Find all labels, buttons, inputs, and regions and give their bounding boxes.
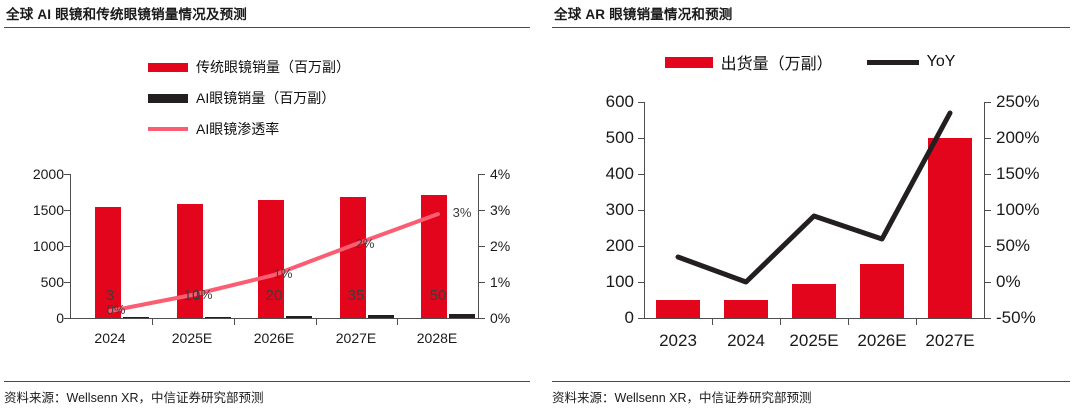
legend-item-ai-penetration: AI眼镜渗透率 — [148, 119, 350, 139]
legend-label-yoy: YoY — [927, 53, 956, 71]
y-axis-right-tick-0pct: 0% — [490, 310, 510, 326]
y-axis-right-tick-0pct: 0% — [996, 272, 1021, 292]
tick-x-sep-3 — [316, 319, 317, 325]
panel-right-footer-rule — [552, 381, 1070, 382]
tick-left-0 — [638, 318, 644, 319]
tick-x-sep-2 — [234, 319, 235, 325]
x-axis-label-2024: 2024 — [727, 331, 765, 351]
y-axis-right-tick-2pct: 2% — [490, 238, 510, 254]
y-axis-right-tick-250pct: 250% — [996, 92, 1039, 112]
legend-label-ai-penetration: AI眼镜渗透率 — [196, 119, 279, 139]
x-axis-label-2028e: 2028E — [417, 330, 457, 346]
tick-right-2pct — [479, 246, 485, 247]
x-axis-label-2024: 2024 — [94, 330, 125, 346]
x-axis-label-2027e: 2027E — [336, 330, 376, 346]
panel-left-title: 全球 AI 眼镜和传统眼镜销量情况及预测 — [4, 0, 530, 27]
tick-x-sep-4 — [397, 319, 398, 325]
tick-x-sep-1 — [712, 319, 713, 325]
pct-label-2027e: 2% — [356, 236, 375, 251]
pct-label-2025e: 1% — [194, 287, 213, 302]
panel-left-title-rule — [4, 27, 530, 28]
data-label-ai-2028e: 50 — [430, 287, 447, 304]
pct-label-2028e: 3% — [453, 205, 472, 220]
y-axis-left-tick-500: 500 — [4, 274, 64, 290]
legend-label-ai-glasses: AI眼镜销量（百万副） — [196, 88, 335, 108]
y-axis-left-tick-400: 400 — [562, 164, 634, 184]
legend-item-ai-glasses: AI眼镜销量（百万副） — [148, 88, 350, 108]
x-axis-label-2026e: 2026E — [254, 330, 294, 346]
tick-right-150pct — [985, 174, 991, 175]
legend-swatch-black-line-icon — [867, 60, 919, 65]
data-label-ai-2026e: 20 — [266, 287, 283, 304]
x-axis-line — [644, 318, 985, 319]
x-axis-label-2026e: 2026E — [857, 331, 906, 351]
legend-swatch-red-bar-icon — [665, 57, 713, 68]
y-axis-left-tick-1000: 1000 — [4, 238, 64, 254]
y-axis-left-tick-2000: 2000 — [4, 166, 64, 182]
y-axis-left-tick-100: 100 — [562, 272, 634, 292]
tick-x-sep-1 — [152, 319, 153, 325]
legend-swatch-red-bar-icon — [148, 63, 188, 72]
legend-item-traditional-glasses: 传统眼镜销量（百万副） — [148, 57, 350, 77]
legend-swatch-pink-line-icon — [148, 127, 188, 131]
tick-right-1pct — [479, 282, 485, 283]
y-axis-right-tick-50pct: 50% — [996, 236, 1030, 256]
tick-right-200pct — [985, 138, 991, 139]
pct-label-2026e: 1% — [274, 266, 293, 281]
x-axis-label-2025e: 2025E — [789, 331, 838, 351]
y-axis-left-tick-0: 0 — [4, 310, 64, 326]
two-chart-figure-page: 全球 AI 眼镜和传统眼镜销量情况及预测 传统眼镜销量（百万副） AI眼镜销量（… — [0, 0, 1080, 414]
y-axis-right-tick-1pct: 1% — [490, 274, 510, 290]
plot-area-left: 3 10 20 35 50 0% 1% 1% 2% 3% — [70, 174, 479, 318]
chart-ai-vs-traditional: 0 500 1000 1500 2000 0% 1% 2% 3% 4% — [4, 160, 534, 360]
x-axis-line — [70, 318, 479, 319]
legend-item-shipments: 出货量（万副） — [665, 50, 833, 74]
panel-ai-vs-traditional-glasses: 全球 AI 眼镜和传统眼镜销量情况及预测 传统眼镜销量（百万副） AI眼镜销量（… — [0, 0, 540, 414]
tick-right-neg50pct — [985, 318, 991, 319]
y-axis-right-tick-200pct: 200% — [996, 128, 1039, 148]
y-axis-left-tick-300: 300 — [562, 200, 634, 220]
legend-left: 传统眼镜销量（百万副） AI眼镜销量（百万副） AI眼镜渗透率 — [148, 57, 350, 139]
y-axis-right-tick-100pct: 100% — [996, 200, 1039, 220]
y-axis-left-tick-1500: 1500 — [4, 202, 64, 218]
legend-label-traditional-glasses: 传统眼镜销量（百万副） — [196, 57, 350, 77]
plot-area-right — [644, 102, 984, 318]
tick-right-4pct — [479, 174, 485, 175]
panel-left-footer-rule — [4, 381, 530, 382]
y-axis-right-tick-150pct: 150% — [996, 164, 1039, 184]
panel-right-title: 全球 AR 眼镜销量情况和预测 — [552, 0, 1070, 27]
y-axis-left-tick-500: 500 — [562, 128, 634, 148]
panel-ar-glasses-shipments: 全球 AR 眼镜销量情况和预测 出货量（万副） YoY 0 100 200 30… — [540, 0, 1080, 414]
legend-label-shipments: 出货量（万副） — [721, 50, 833, 74]
x-axis-label-2025e: 2025E — [172, 330, 212, 346]
y-axis-left-tick-0: 0 — [562, 308, 634, 328]
tick-right-250pct — [985, 102, 991, 103]
x-axis-label-2027e: 2027E — [925, 331, 974, 351]
panel-right-title-rule — [552, 27, 1070, 28]
tick-x-sep-4 — [916, 319, 917, 325]
y-axis-right-tick-neg50pct: -50% — [996, 308, 1036, 328]
tick-right-0pct — [479, 318, 485, 319]
tick-x-sep-2 — [780, 319, 781, 325]
tick-right-0pct — [985, 282, 991, 283]
tick-right-3pct — [479, 210, 485, 211]
tick-right-50pct — [985, 246, 991, 247]
legend-item-yoy: YoY — [867, 53, 956, 71]
y-axis-left-tick-200: 200 — [562, 236, 634, 256]
panel-left-source: 资料来源：Wellsenn XR，中信证券研究部预测 — [4, 387, 264, 406]
y-axis-left-tick-600: 600 — [562, 92, 634, 112]
legend-swatch-black-bar-icon — [148, 94, 188, 103]
y-axis-right-tick-3pct: 3% — [490, 202, 510, 218]
pct-label-2024: 0% — [107, 302, 126, 317]
data-label-ai-2027e: 35 — [348, 287, 365, 304]
tick-right-100pct — [985, 210, 991, 211]
chart-ar-shipments: 0 100 200 300 400 500 600 -50% 0% 50% 10… — [552, 88, 1072, 360]
legend-right: 出货量（万副） YoY — [540, 50, 1080, 74]
y-axis-right-tick-4pct: 4% — [490, 166, 510, 182]
tick-left-0 — [64, 318, 70, 319]
line-yoy — [644, 102, 984, 318]
panel-right-source: 资料来源：Wellsenn XR，中信证券研究部预测 — [552, 387, 812, 406]
x-axis-label-2023: 2023 — [659, 331, 697, 351]
tick-x-sep-3 — [848, 319, 849, 325]
